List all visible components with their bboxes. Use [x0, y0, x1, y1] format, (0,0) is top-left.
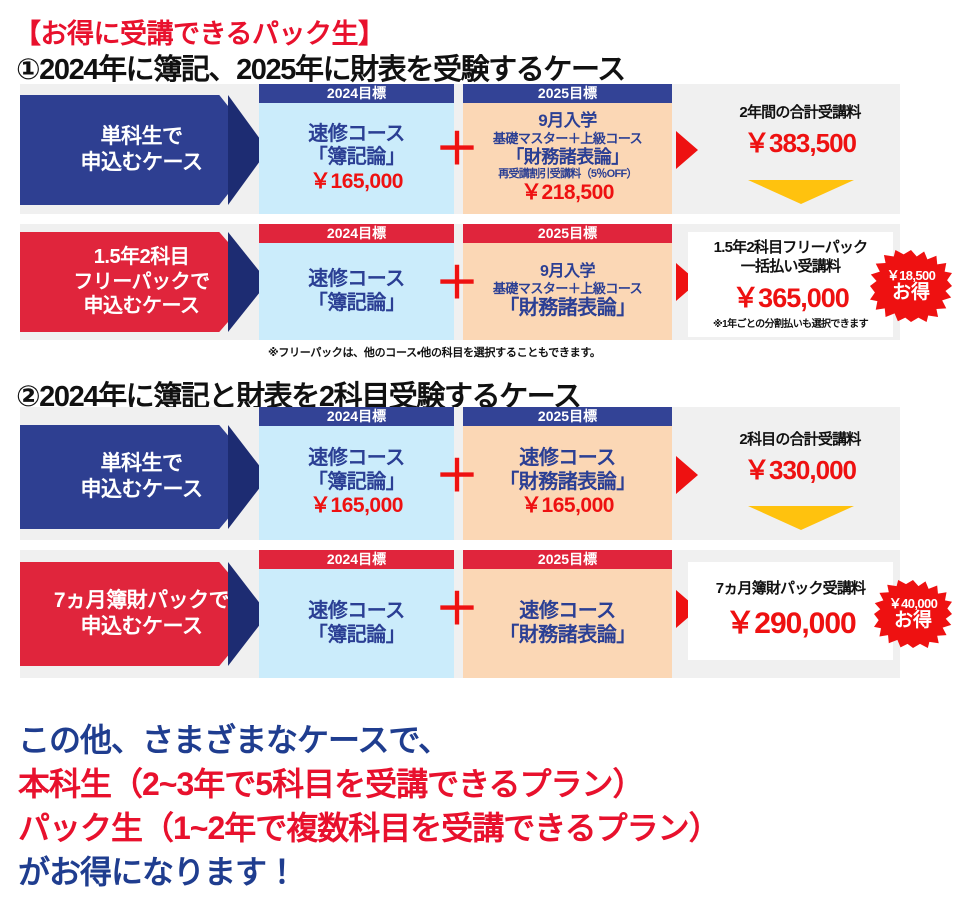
- result-price: ￥365,000: [732, 276, 849, 315]
- section1-row1-case-tag: 単科生で 申込むケース: [20, 95, 263, 205]
- closing-line-1: この他、さまざまなケースで、: [18, 718, 720, 762]
- column-header: 2025目標: [463, 407, 672, 426]
- plus-icon: ＋: [435, 128, 479, 172]
- section1-discount-badge: ￥18,500 お得: [870, 250, 952, 322]
- tag-line: フリーパックで: [73, 270, 209, 294]
- column-body: 速修コース 「簿記論」: [259, 243, 454, 340]
- course-name: 速修コース: [519, 447, 616, 471]
- section2-row2-col-2025: 2025目標 速修コース 「財務諸表論」: [463, 550, 672, 678]
- column-body: 速修コース 「財務諸表論」 ￥165,000: [463, 426, 672, 540]
- tag-line: 申込むケース: [81, 477, 203, 503]
- badge-word: お得: [887, 283, 936, 303]
- column-body: 速修コース 「財務諸表論」: [463, 569, 672, 678]
- section2-row1-result: 2科目の合計受講料 ￥330,000: [700, 425, 900, 493]
- plus-icon: ＋: [435, 455, 479, 499]
- column-header: 2025目標: [463, 550, 672, 569]
- course-subject: 「財務諸表論」: [499, 471, 636, 495]
- result-label: 7ヵ月簿財パック受講料: [716, 580, 866, 599]
- section2-row2-result: 7ヵ月簿財パック受講料 ￥290,000: [688, 562, 893, 660]
- closing-line-4: がお得になります！: [18, 850, 720, 894]
- section1-row1-result: 2年間の合計受講料 ￥383,500: [700, 96, 900, 168]
- column-header: 2024目標: [259, 84, 454, 103]
- section1-heading: ①2024年に簿記、2025年に財表を受験するケース: [16, 46, 625, 88]
- course-price: ￥165,000: [310, 170, 403, 195]
- badge-amount: ￥40,000: [889, 597, 938, 611]
- section1-row1-col-2024: 2024目標 速修コース 「簿記論」 ￥165,000: [259, 84, 454, 214]
- badge-text: ￥40,000 お得: [889, 597, 938, 631]
- discount-note: 再受講割引受講料（5％OFF）: [498, 168, 637, 181]
- course-name: 基礎マスター＋上級コース: [493, 281, 642, 296]
- tag-line: 7ヵ月簿財パックで: [54, 588, 229, 614]
- result-label: 一括払い受講料: [741, 258, 840, 277]
- column-body: 9月入学 基礎マスター＋上級コース 「財務諸表論」: [463, 243, 672, 340]
- result-label: 2科目の合計受講料: [739, 431, 860, 450]
- section1-row2-case-tag: 1.5年2科目 フリーパックで 申込むケース: [20, 232, 263, 332]
- badge-word: お得: [889, 611, 938, 631]
- column-header: 2025目標: [463, 84, 672, 103]
- course-name: 基礎マスター＋上級コース: [493, 131, 642, 146]
- closing-line-3: パック生（1~2年で複数科目を受講できるプラン）: [18, 806, 720, 850]
- closing-line-2: 本科生（2~3年で5科目を受講できるプラン）: [18, 762, 720, 806]
- section1-row2-col-2025: 2025目標 9月入学 基礎マスター＋上級コース 「財務諸表論」: [463, 224, 672, 340]
- badge-text: ￥18,500 お得: [887, 269, 936, 303]
- result-price: ￥330,000: [744, 450, 856, 487]
- course-subject: 「簿記論」: [308, 624, 406, 648]
- course-name: 速修コース: [308, 123, 405, 147]
- section2-row1-col-2025: 2025目標 速修コース 「財務諸表論」 ￥165,000: [463, 407, 672, 540]
- result-price: ￥290,000: [725, 598, 855, 642]
- course-price: ￥165,000: [521, 494, 614, 519]
- course-subject: 「財務諸表論」: [499, 297, 636, 321]
- section1-row2-col-2024: 2024目標 速修コース 「簿記論」: [259, 224, 454, 340]
- column-body: 速修コース 「簿記論」: [259, 569, 454, 678]
- column-body: 速修コース 「簿記論」 ￥165,000: [259, 426, 454, 540]
- column-body: 速修コース 「簿記論」 ￥165,000: [259, 103, 454, 214]
- section2-discount-badge: ￥40,000 お得: [874, 580, 952, 648]
- badge-amount: ￥18,500: [887, 269, 936, 283]
- tag-line: 単科生で: [81, 451, 203, 477]
- entry-month: 9月入学: [540, 263, 595, 282]
- course-name: 速修コース: [308, 268, 405, 292]
- course-subject: 「財務諸表論」: [506, 147, 629, 168]
- column-header: 2024目標: [259, 407, 454, 426]
- result-label: 1.5年2科目フリーパック: [714, 239, 868, 258]
- course-name: 速修コース: [308, 447, 405, 471]
- result-label: 2年間の合計受講料: [739, 104, 860, 123]
- course-subject: 「簿記論」: [308, 292, 406, 316]
- plus-icon: ＋: [435, 588, 479, 632]
- tag-line: 申込むケース: [81, 150, 203, 176]
- section2-row2-col-2024: 2024目標 速修コース 「簿記論」: [259, 550, 454, 678]
- infographic-page: 【お得に受講できるパック生】 ①2024年に簿記、2025年に財表を受験するケー…: [0, 0, 960, 909]
- course-price: ￥165,000: [310, 494, 403, 519]
- course-subject: 「簿記論」: [308, 146, 406, 170]
- tag-line: 申込むケース: [73, 294, 209, 318]
- column-body: 9月入学 基礎マスター＋上級コース 「財務諸表論」 再受講割引受講料（5％OFF…: [463, 103, 672, 214]
- section1-footnote: ※フリーパックは、他のコース・他の科目を選択することもできます。: [268, 344, 601, 360]
- tag-line: 単科生で: [81, 124, 203, 150]
- course-name: 速修コース: [308, 600, 405, 624]
- section1-row2-result: 1.5年2科目フリーパック 一括払い受講料 ￥365,000 ※1年ごとの分割払…: [688, 232, 893, 337]
- column-header: 2024目標: [259, 550, 454, 569]
- tag-line: 申込むケース: [54, 614, 229, 640]
- course-subject: 「簿記論」: [308, 471, 406, 495]
- course-price: ￥218,500: [521, 181, 614, 206]
- closing-message: この他、さまざまなケースで、 本科生（2~3年で5科目を受講できるプラン） パッ…: [18, 718, 720, 895]
- course-name: 速修コース: [519, 600, 616, 624]
- section2-row1-col-2024: 2024目標 速修コース 「簿記論」 ￥165,000: [259, 407, 454, 540]
- course-subject: 「財務諸表論」: [499, 624, 636, 648]
- tag-line: 1.5年2科目: [73, 245, 209, 269]
- column-header: 2024目標: [259, 224, 454, 243]
- column-header: 2025目標: [463, 224, 672, 243]
- result-price: ￥383,500: [744, 123, 856, 160]
- entry-month: 9月入学: [538, 111, 596, 131]
- section2-row2-case-tag: 7ヵ月簿財パックで 申込むケース: [20, 562, 263, 666]
- section1-row1-col-2025: 2025目標 9月入学 基礎マスター＋上級コース 「財務諸表論」 再受講割引受講…: [463, 84, 672, 214]
- section2-row1-case-tag: 単科生で 申込むケース: [20, 425, 263, 529]
- plus-icon: ＋: [435, 262, 479, 306]
- result-note: ※1年ごとの分割払いも選択できます: [713, 315, 868, 330]
